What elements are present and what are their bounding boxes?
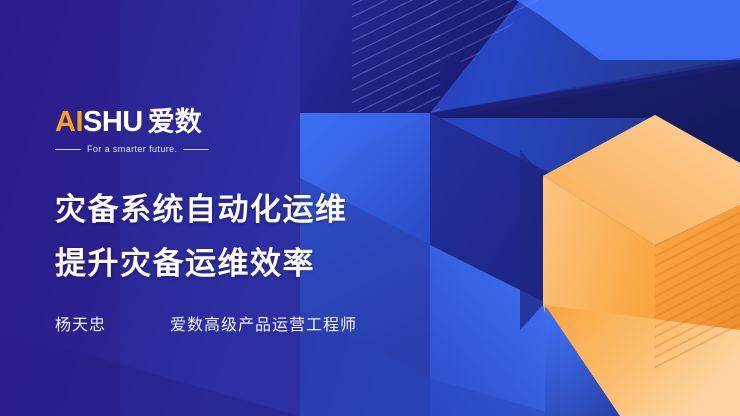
tagline-rule-left [55,149,81,150]
logo-accent-letters: AI [55,106,83,138]
tagline-rule-right [183,149,209,150]
slide-content: AISHU爱数 For a smarter future. 灾备系统自动化运维 … [0,0,430,416]
title-slide: AISHU爱数 For a smarter future. 灾备系统自动化运维 … [0,0,740,416]
byline-name: 杨天忠 [55,311,170,335]
logo-wordmark: AISHU爱数 [55,108,255,137]
byline-role: 爱数高级产品运营工程师 [170,311,357,335]
brand-logo: AISHU爱数 For a smarter future. [55,108,255,154]
page-title-line-2: 提升灾备运维效率 [55,238,315,283]
brand-tagline: For a smarter future. [55,144,255,154]
logo-cjk: 爱数 [148,107,202,137]
tagline-text: For a smarter future. [87,144,177,154]
byline: 杨天忠 爱数高级产品运营工程师 [55,311,357,335]
logo-latin-rest: SHU [83,106,143,138]
page-title-line-1: 灾备系统自动化运维 [55,184,348,229]
